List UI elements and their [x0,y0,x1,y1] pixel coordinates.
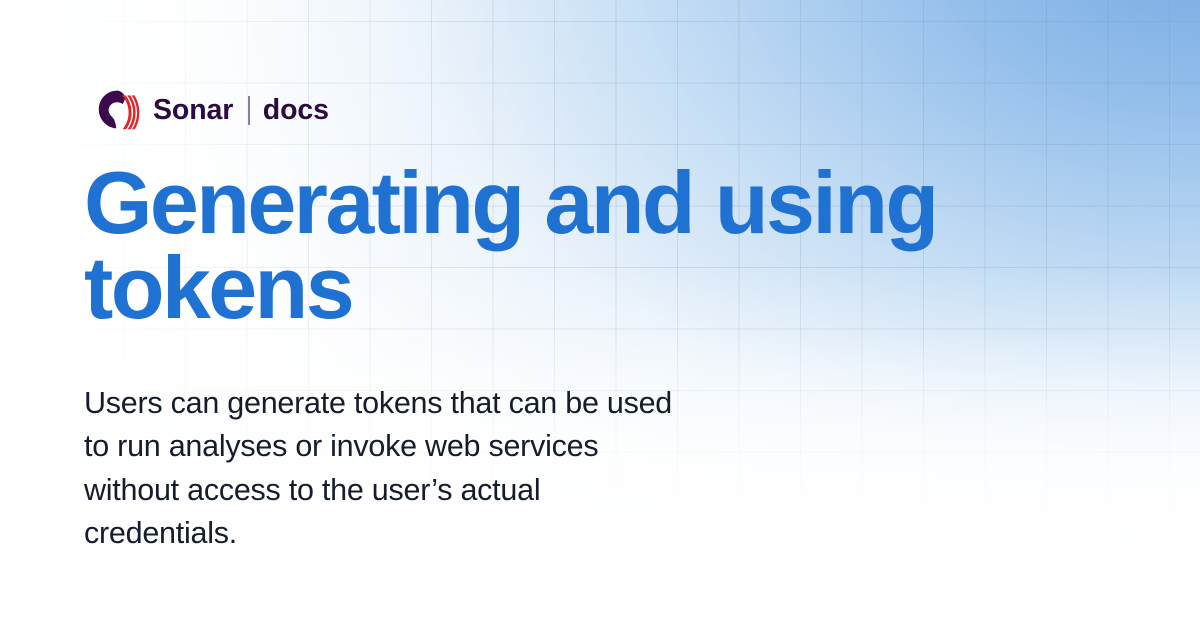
card-content: Sonar docs Generating and using tokens U… [0,0,1200,630]
page-description: Users can generate tokens that can be us… [84,382,904,555]
social-card-canvas: Sonar docs Generating and using tokens U… [0,0,1200,630]
brand-divider [248,96,250,125]
description-line: without access to the user’s actual [84,469,904,512]
brand-lockup: Sonar docs [96,86,329,134]
brand-name: Sonar [153,96,233,125]
description-line: credentials. [84,512,904,555]
description-line: Users can generate tokens that can be us… [84,382,904,425]
page-title: Generating and using tokens [84,160,1094,331]
description-line: to run analyses or invoke web services [84,425,904,468]
brand-section-label: docs [263,96,329,125]
sonar-logo-icon [96,88,140,132]
